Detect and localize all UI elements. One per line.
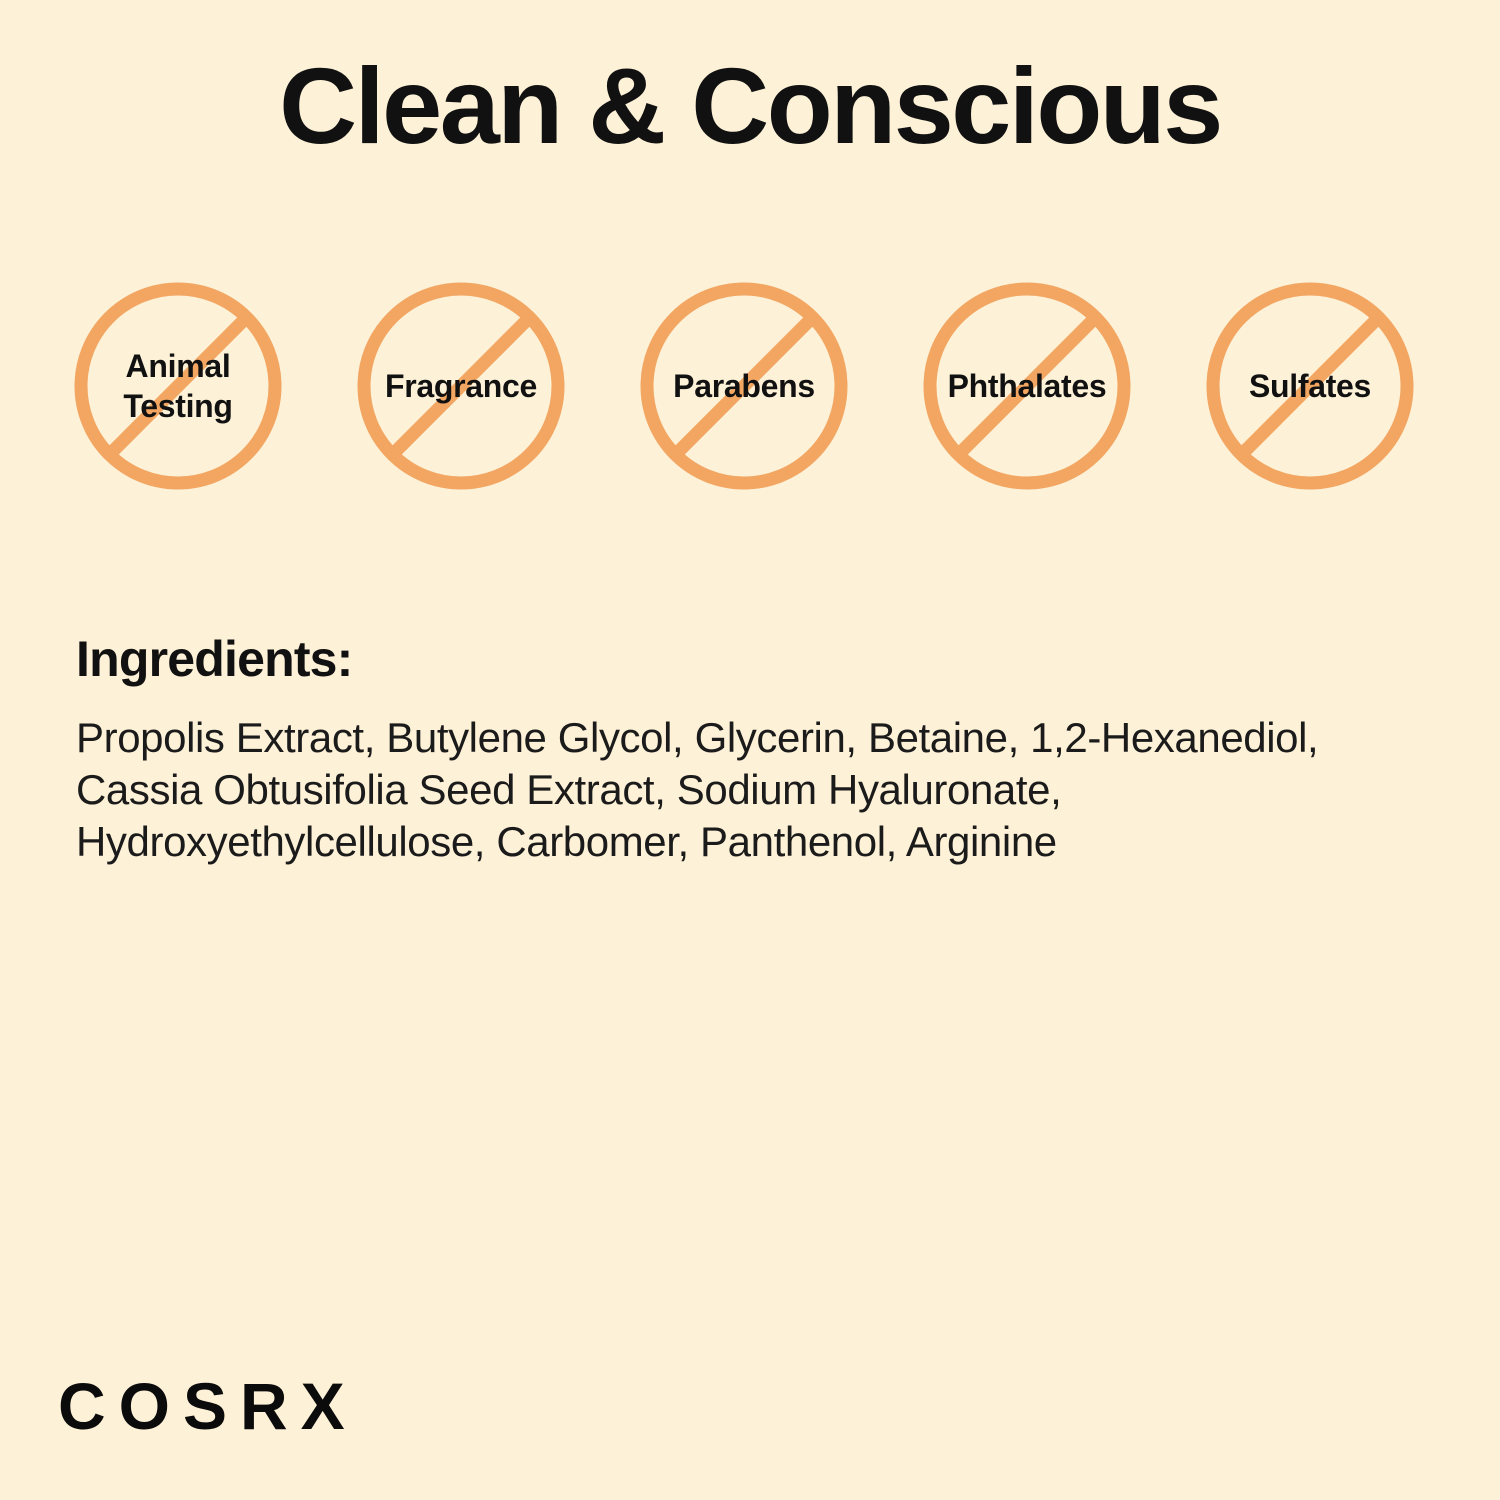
badge-phthalates: Phthalates xyxy=(921,280,1133,492)
ingredients-heading: Ingredients: xyxy=(76,630,353,688)
product-info-panel: Clean & Conscious AnimalTesting Fragranc… xyxy=(0,0,1500,1500)
badge-parabens: Parabens xyxy=(638,280,850,492)
badge-sulfates: Sulfates xyxy=(1204,280,1416,492)
no-symbol-icon xyxy=(72,280,284,492)
no-symbol-icon xyxy=(1204,280,1416,492)
no-symbol-icon xyxy=(638,280,850,492)
brand-logo: COSRX xyxy=(58,1368,358,1444)
no-symbol-icon xyxy=(921,280,1133,492)
page-title: Clean & Conscious xyxy=(0,52,1500,160)
badge-animal-testing: AnimalTesting xyxy=(72,280,284,492)
no-symbol-icon xyxy=(355,280,567,492)
ingredients-list: Propolis Extract, Butylene Glycol, Glyce… xyxy=(76,712,1421,868)
free-from-badge-row: AnimalTesting Fragrance Parabens Phtha xyxy=(72,280,1428,492)
badge-fragrance: Fragrance xyxy=(355,280,567,492)
